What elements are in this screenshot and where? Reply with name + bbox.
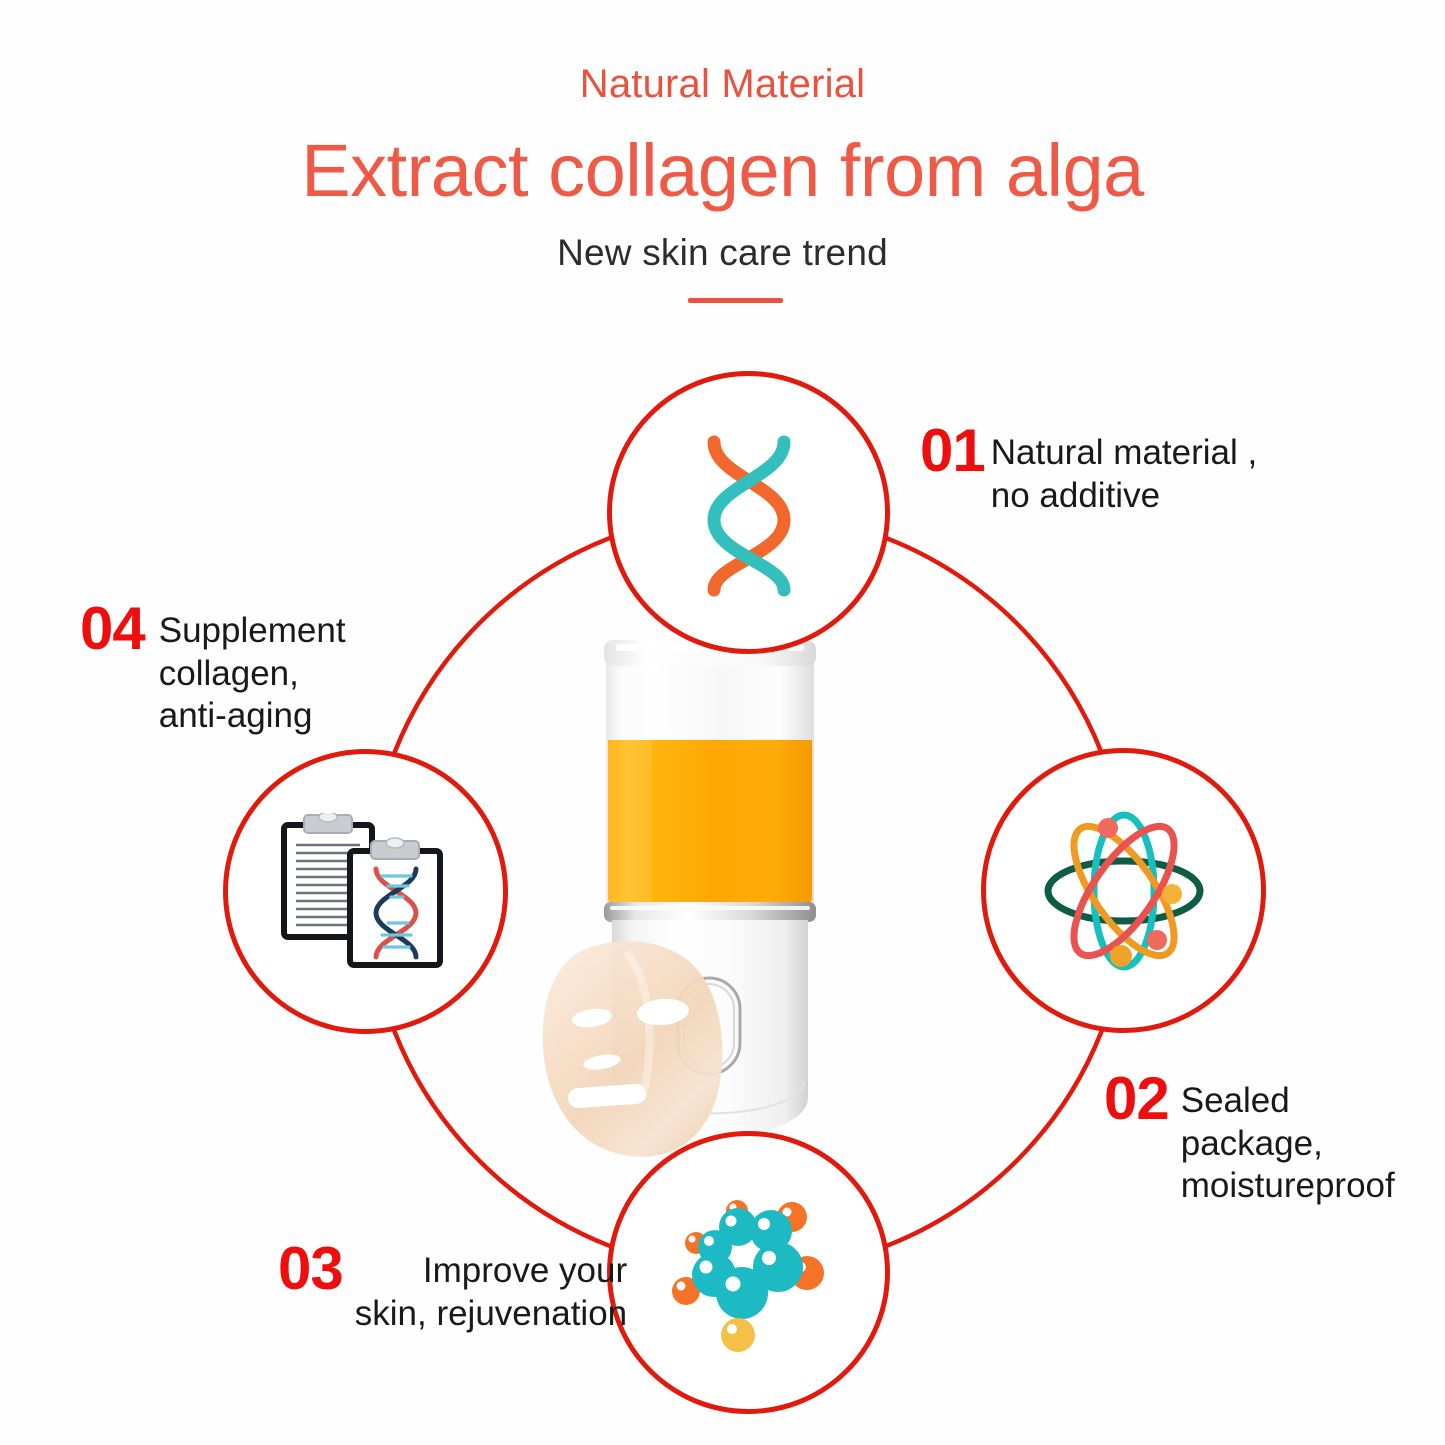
header-subline: New skin care trend — [0, 232, 1445, 274]
feature-number-01: 01 — [920, 422, 985, 479]
feature-circle-right[interactable] — [981, 748, 1266, 1033]
dna-helix-icon — [674, 428, 824, 598]
feature-label-02: 02 Sealed package, moistureproof — [1104, 1070, 1395, 1208]
molecule-bubbles-icon — [654, 1183, 844, 1363]
feature-label-03: 03 Improve your skin, rejuvenation — [278, 1240, 627, 1335]
clipboard-dna-report-icon — [278, 813, 454, 971]
feature-circle-top[interactable] — [607, 371, 890, 654]
feature-label-01: 01 Natural material , no additive — [920, 422, 1257, 517]
header-divider — [688, 298, 783, 303]
feature-number-04: 04 — [80, 600, 145, 657]
facial-sheet-mask — [543, 941, 723, 1156]
feature-number-03: 03 — [278, 1240, 343, 1297]
feature-text-04: Supplement collagen, anti-aging — [159, 600, 346, 738]
feature-text-02: Sealed package, moistureproof — [1181, 1070, 1395, 1208]
product-device-illustration — [530, 630, 890, 1160]
feature-circle-bottom[interactable] — [607, 1131, 890, 1414]
clipboard-dna — [350, 838, 440, 965]
infographic-page: Natural Material Extract collagen from a… — [0, 0, 1445, 1445]
header-headline: Extract collagen from alga — [0, 128, 1445, 213]
product-image — [530, 630, 890, 1160]
feature-text-03: Improve your skin, rejuvenation — [355, 1240, 627, 1335]
header-kicker: Natural Material — [0, 62, 1445, 107]
feature-number-02: 02 — [1104, 1070, 1169, 1127]
feature-circle-left[interactable] — [223, 749, 508, 1034]
feature-label-04: 04 Supplement collagen, anti-aging — [80, 600, 346, 738]
atom-icon — [1035, 802, 1213, 980]
feature-text-01: Natural material , no additive — [991, 422, 1257, 517]
